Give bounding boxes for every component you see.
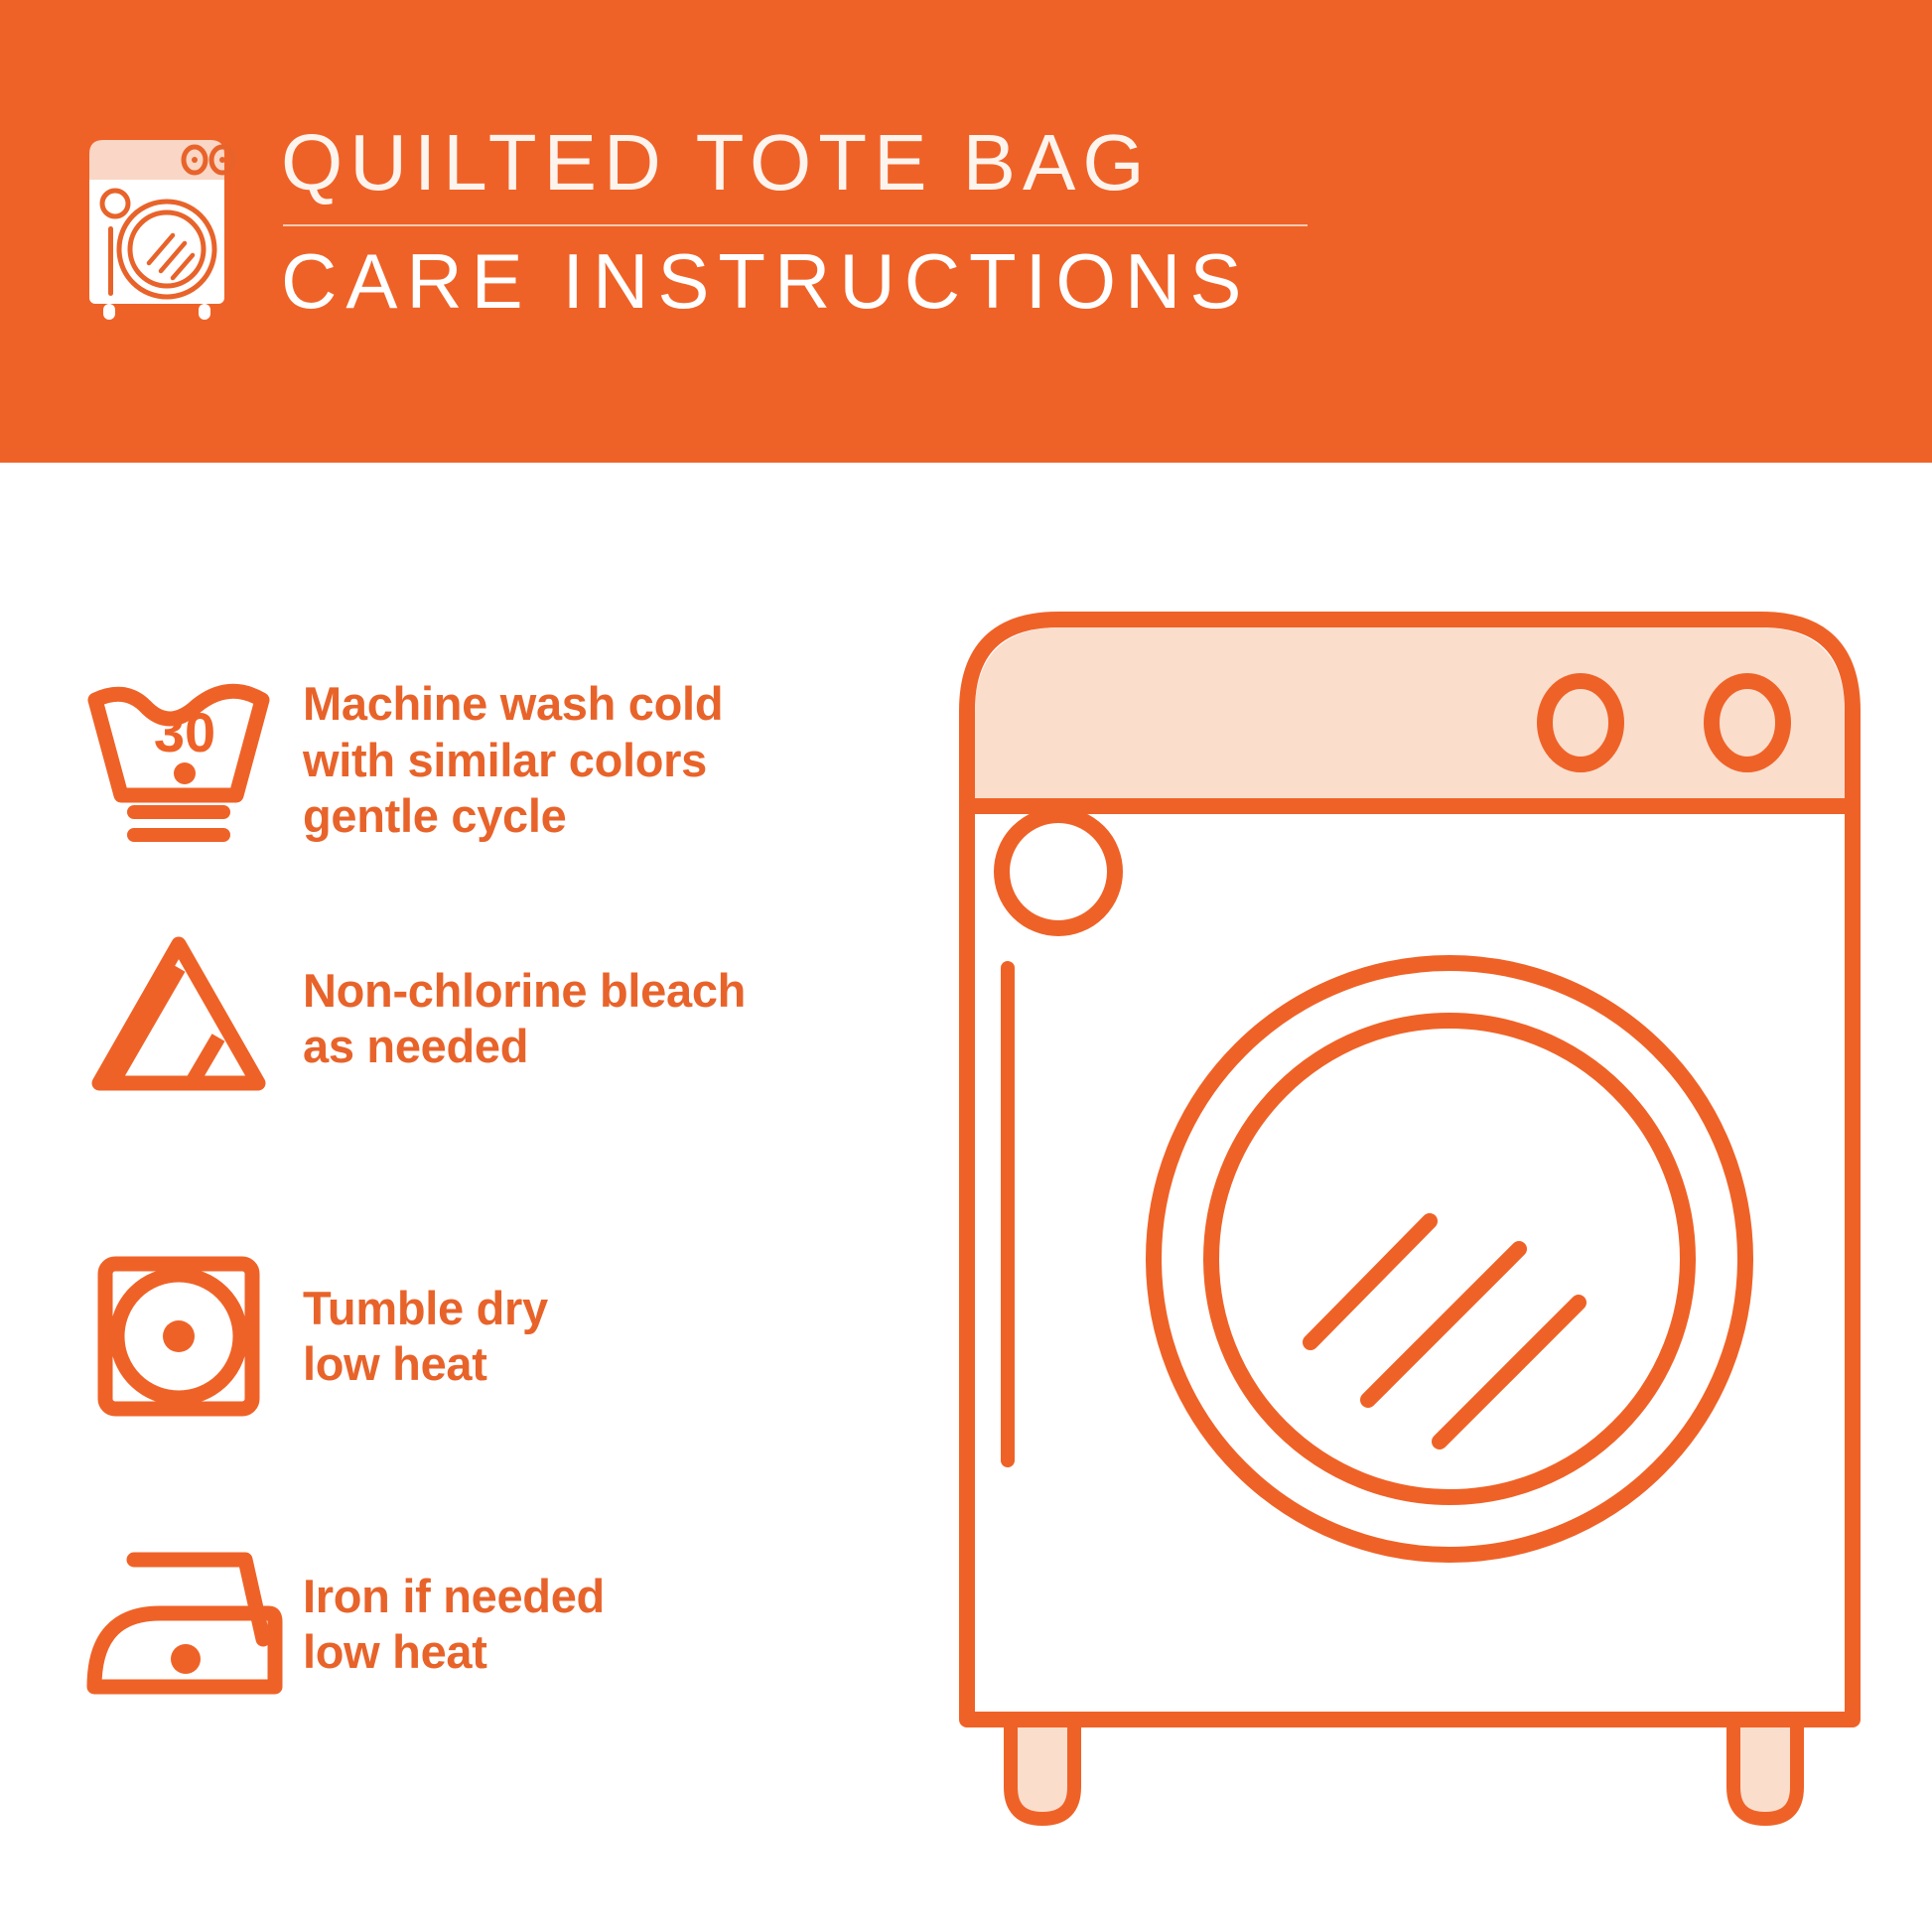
care-label-tumble-dry: Tumble dry low heat [303,1281,548,1393]
care-label-machine-wash: Machine wash cold with similar colors ge… [303,676,723,844]
care-label-line: with similar colors [303,733,723,788]
machine-vertical-line [1001,961,1015,1467]
wash-tub-30-icon: 30 [71,666,285,855]
bleach-triangle-icon [71,924,285,1113]
care-instructions-list: 30 Machine wash cold with similar colors… [0,463,943,1932]
care-label-line: low heat [303,1624,605,1680]
tumble-dry-icon [71,1242,285,1431]
care-row-machine-wash: 30 Machine wash cold with similar colors… [0,651,943,870]
care-row-tumble-dry: Tumble dry low heat [0,1227,943,1446]
care-label-line: Machine wash cold [303,676,723,732]
machine-leg-right [1733,1716,1797,1819]
care-row-bleach: Non-chlorine bleach as needed [0,909,943,1128]
care-label-line: Tumble dry [303,1281,548,1336]
care-label-line: low heat [303,1336,548,1392]
header-title-block: QUILTED TOTE BAG CARE INSTRUCTIONS [281,123,1313,320]
care-label-line: Non-chlorine bleach [303,963,746,1019]
iron-icon [71,1538,285,1712]
header-banner: QUILTED TOTE BAG CARE INSTRUCTIONS [0,0,1932,463]
care-label-bleach: Non-chlorine bleach as needed [303,963,746,1075]
washing-machine-illustration [953,606,1866,1857]
machine-knob-right [1712,681,1783,764]
machine-knob-left [1545,681,1616,764]
wash-temperature-value: 30 [153,701,214,763]
care-label-iron: Iron if needed low heat [303,1569,605,1681]
care-label-line: gentle cycle [303,788,723,844]
care-label-line: Iron if needed [303,1569,605,1624]
title-divider [283,224,1308,226]
page-subtitle: CARE INSTRUCTIONS [281,242,1313,320]
care-label-line: as needed [303,1019,746,1074]
machine-leg-left [1011,1716,1074,1819]
page-title: QUILTED TOTE BAG [281,123,1313,203]
care-row-iron: Iron if needed low heat [0,1515,943,1733]
washing-machine-icon [77,132,236,321]
